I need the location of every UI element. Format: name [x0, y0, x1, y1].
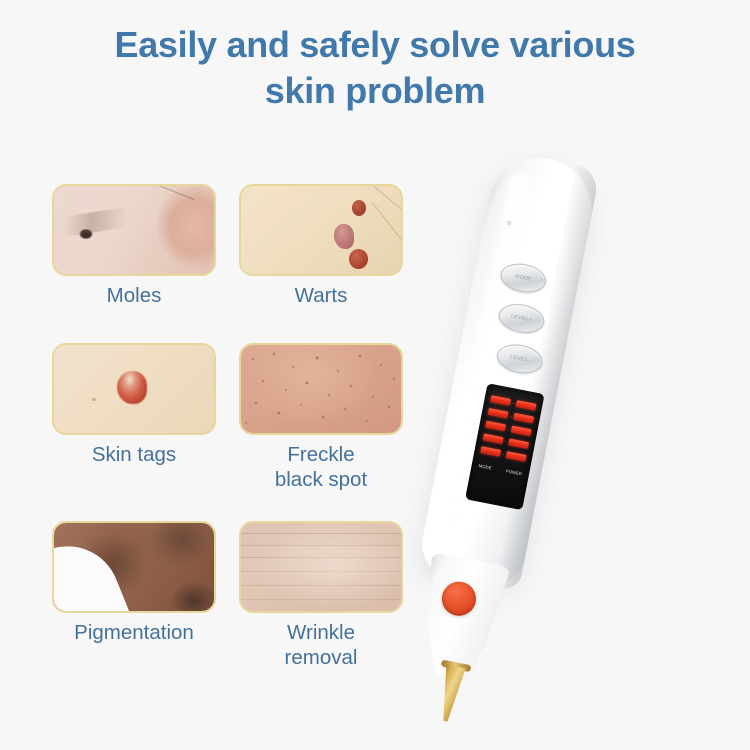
condition-card-skin-tags: Skin tags [52, 343, 216, 467]
led-segment-mode [485, 421, 506, 432]
led-display-label-mode: MODE [478, 463, 492, 470]
freckle-spots-detail [241, 345, 401, 433]
condition-card-moles: Moles [52, 184, 216, 308]
warts-on-skin-photo [241, 186, 401, 274]
skin-tag-lesion [117, 371, 147, 404]
condition-thumbnail-moles [52, 184, 216, 276]
led-display-labels: MODE POWER [477, 463, 523, 477]
condition-thumbnail-skin-tags [52, 343, 216, 435]
condition-label-pigmentation: Pigmentation [52, 620, 216, 645]
freckled-skin-photo [241, 345, 401, 433]
led-segment-power [506, 451, 527, 462]
condition-card-grid: Moles Warts [0, 170, 440, 690]
wart-lesion [334, 224, 354, 249]
condition-label-pigmentation-line-1: Pigmentation [74, 621, 194, 644]
led-segment-mode [480, 446, 501, 457]
page-title-line-2: skin problem [60, 68, 690, 114]
skin-tag-lesion-photo [54, 345, 214, 433]
condition-card-pigmentation: Pigmentation [52, 521, 216, 645]
skin-blemish-detail [92, 398, 96, 401]
highlight-detail [241, 523, 401, 611]
level-up-button-label: LEVEL+ [510, 314, 532, 323]
led-segment-power [513, 413, 534, 424]
condition-label-moles-line-1: Moles [107, 284, 162, 307]
page-title-line-1: Easily and safely solve various [60, 22, 690, 68]
condition-label-warts: Warts [239, 283, 403, 308]
led-segment-power [511, 426, 532, 437]
condition-label-warts-line-1: Warts [295, 284, 348, 307]
led-display-label-power: POWER [505, 468, 522, 476]
condition-label-moles: Moles [52, 283, 216, 308]
skin-crease-detail [372, 203, 401, 251]
condition-thumbnail-wrinkle-removal [239, 521, 403, 613]
condition-label-skin-tags-line-1: Skin tags [92, 443, 176, 466]
led-segment-mode [483, 433, 504, 444]
condition-label-skin-tags: Skin tags [52, 442, 216, 467]
condition-label-wrinkle-line-1: Wrinkle [287, 621, 355, 644]
infographic-page: Easily and safely solve various skin pro… [0, 0, 750, 750]
led-segment-mode [490, 395, 511, 406]
condition-thumbnail-warts [239, 184, 403, 276]
condition-label-wrinkle-removal: Wrinkle removal [239, 620, 403, 670]
condition-label-freckle-line-1: Freckle [287, 443, 354, 466]
wart-lesion [352, 200, 366, 216]
condition-label-wrinkle-line-2: removal [239, 645, 403, 670]
level-down-button-label: LEVEL- [509, 354, 530, 363]
mode-button-label: MODE [514, 274, 532, 283]
pigmented-cheek-photo [54, 523, 214, 611]
wrinkled-skin-photo [241, 523, 401, 611]
condition-card-wrinkle-removal: Wrinkle removal [239, 521, 403, 670]
mole-on-skin-near-ear-photo [54, 186, 214, 274]
condition-thumbnail-pigmentation [52, 521, 216, 613]
hair-strand-detail [144, 186, 195, 200]
condition-card-warts: Warts [239, 184, 403, 308]
wart-lesion [349, 249, 368, 269]
led-segment-power [516, 400, 537, 411]
led-segment-mode [488, 408, 509, 419]
condition-label-freckle-black-spot: Freckle black spot [239, 442, 403, 492]
page-title: Easily and safely solve various skin pro… [60, 22, 690, 114]
condition-label-freckle-line-2: black spot [239, 467, 403, 492]
condition-thumbnail-freckle-black-spot [239, 343, 403, 435]
led-segment-power [508, 438, 529, 449]
product-image-area: MODE LEVEL+ LEVEL- - - [440, 140, 750, 700]
condition-card-freckle-black-spot: Freckle black spot [239, 343, 403, 492]
